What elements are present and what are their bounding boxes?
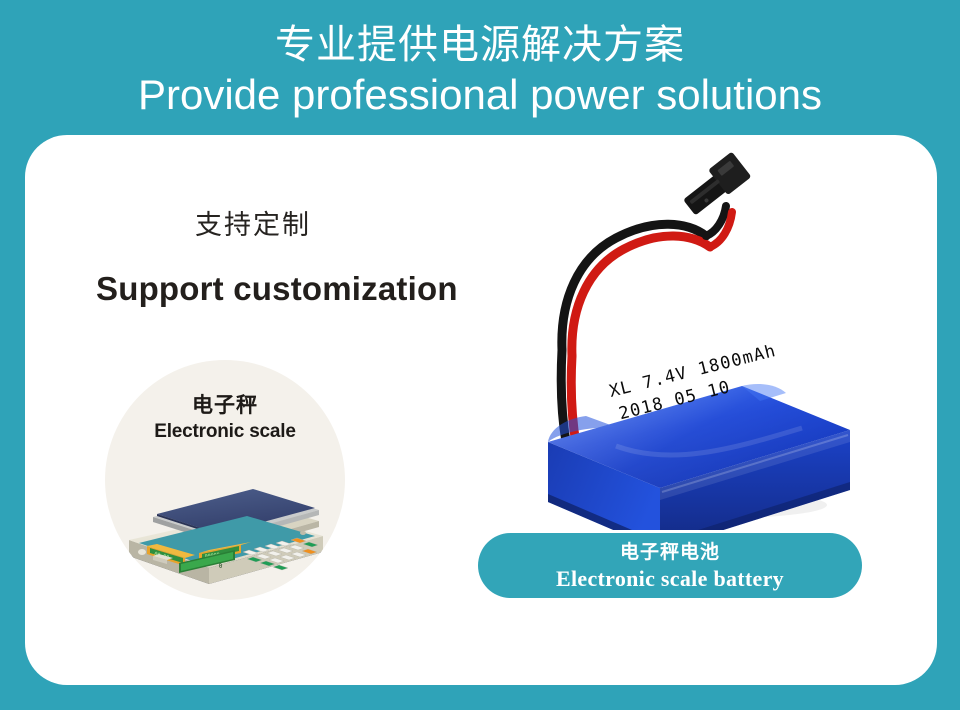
- caption-en: Electronic scale battery: [478, 565, 862, 593]
- battery-caption-pill: 电子秤电池 Electronic scale battery: [478, 533, 862, 598]
- scale-label-cn: 电子秤: [105, 393, 345, 419]
- scale-label-en: Electronic scale: [105, 420, 345, 444]
- header: 专业提供电源解决方案 Provide professional power so…: [0, 0, 960, 132]
- caption-cn: 电子秤电池: [478, 540, 862, 565]
- header-title-en: Provide professional power solutions: [0, 70, 960, 120]
- product-banner: 专业提供电源解决方案 Provide professional power so…: [0, 0, 960, 710]
- battery-illustration: XL 7.4V 1800mAh 2018 05 10: [520, 150, 880, 530]
- electronic-scale-illustration: 00.00 00000 0: [123, 460, 328, 588]
- header-title-cn: 专业提供电源解决方案: [0, 22, 960, 68]
- electronic-scale-thumbnail: 电子秤 Electronic scale: [105, 360, 345, 600]
- support-customization-en: Support customization: [96, 269, 458, 309]
- support-customization-cn: 支持定制: [195, 208, 311, 242]
